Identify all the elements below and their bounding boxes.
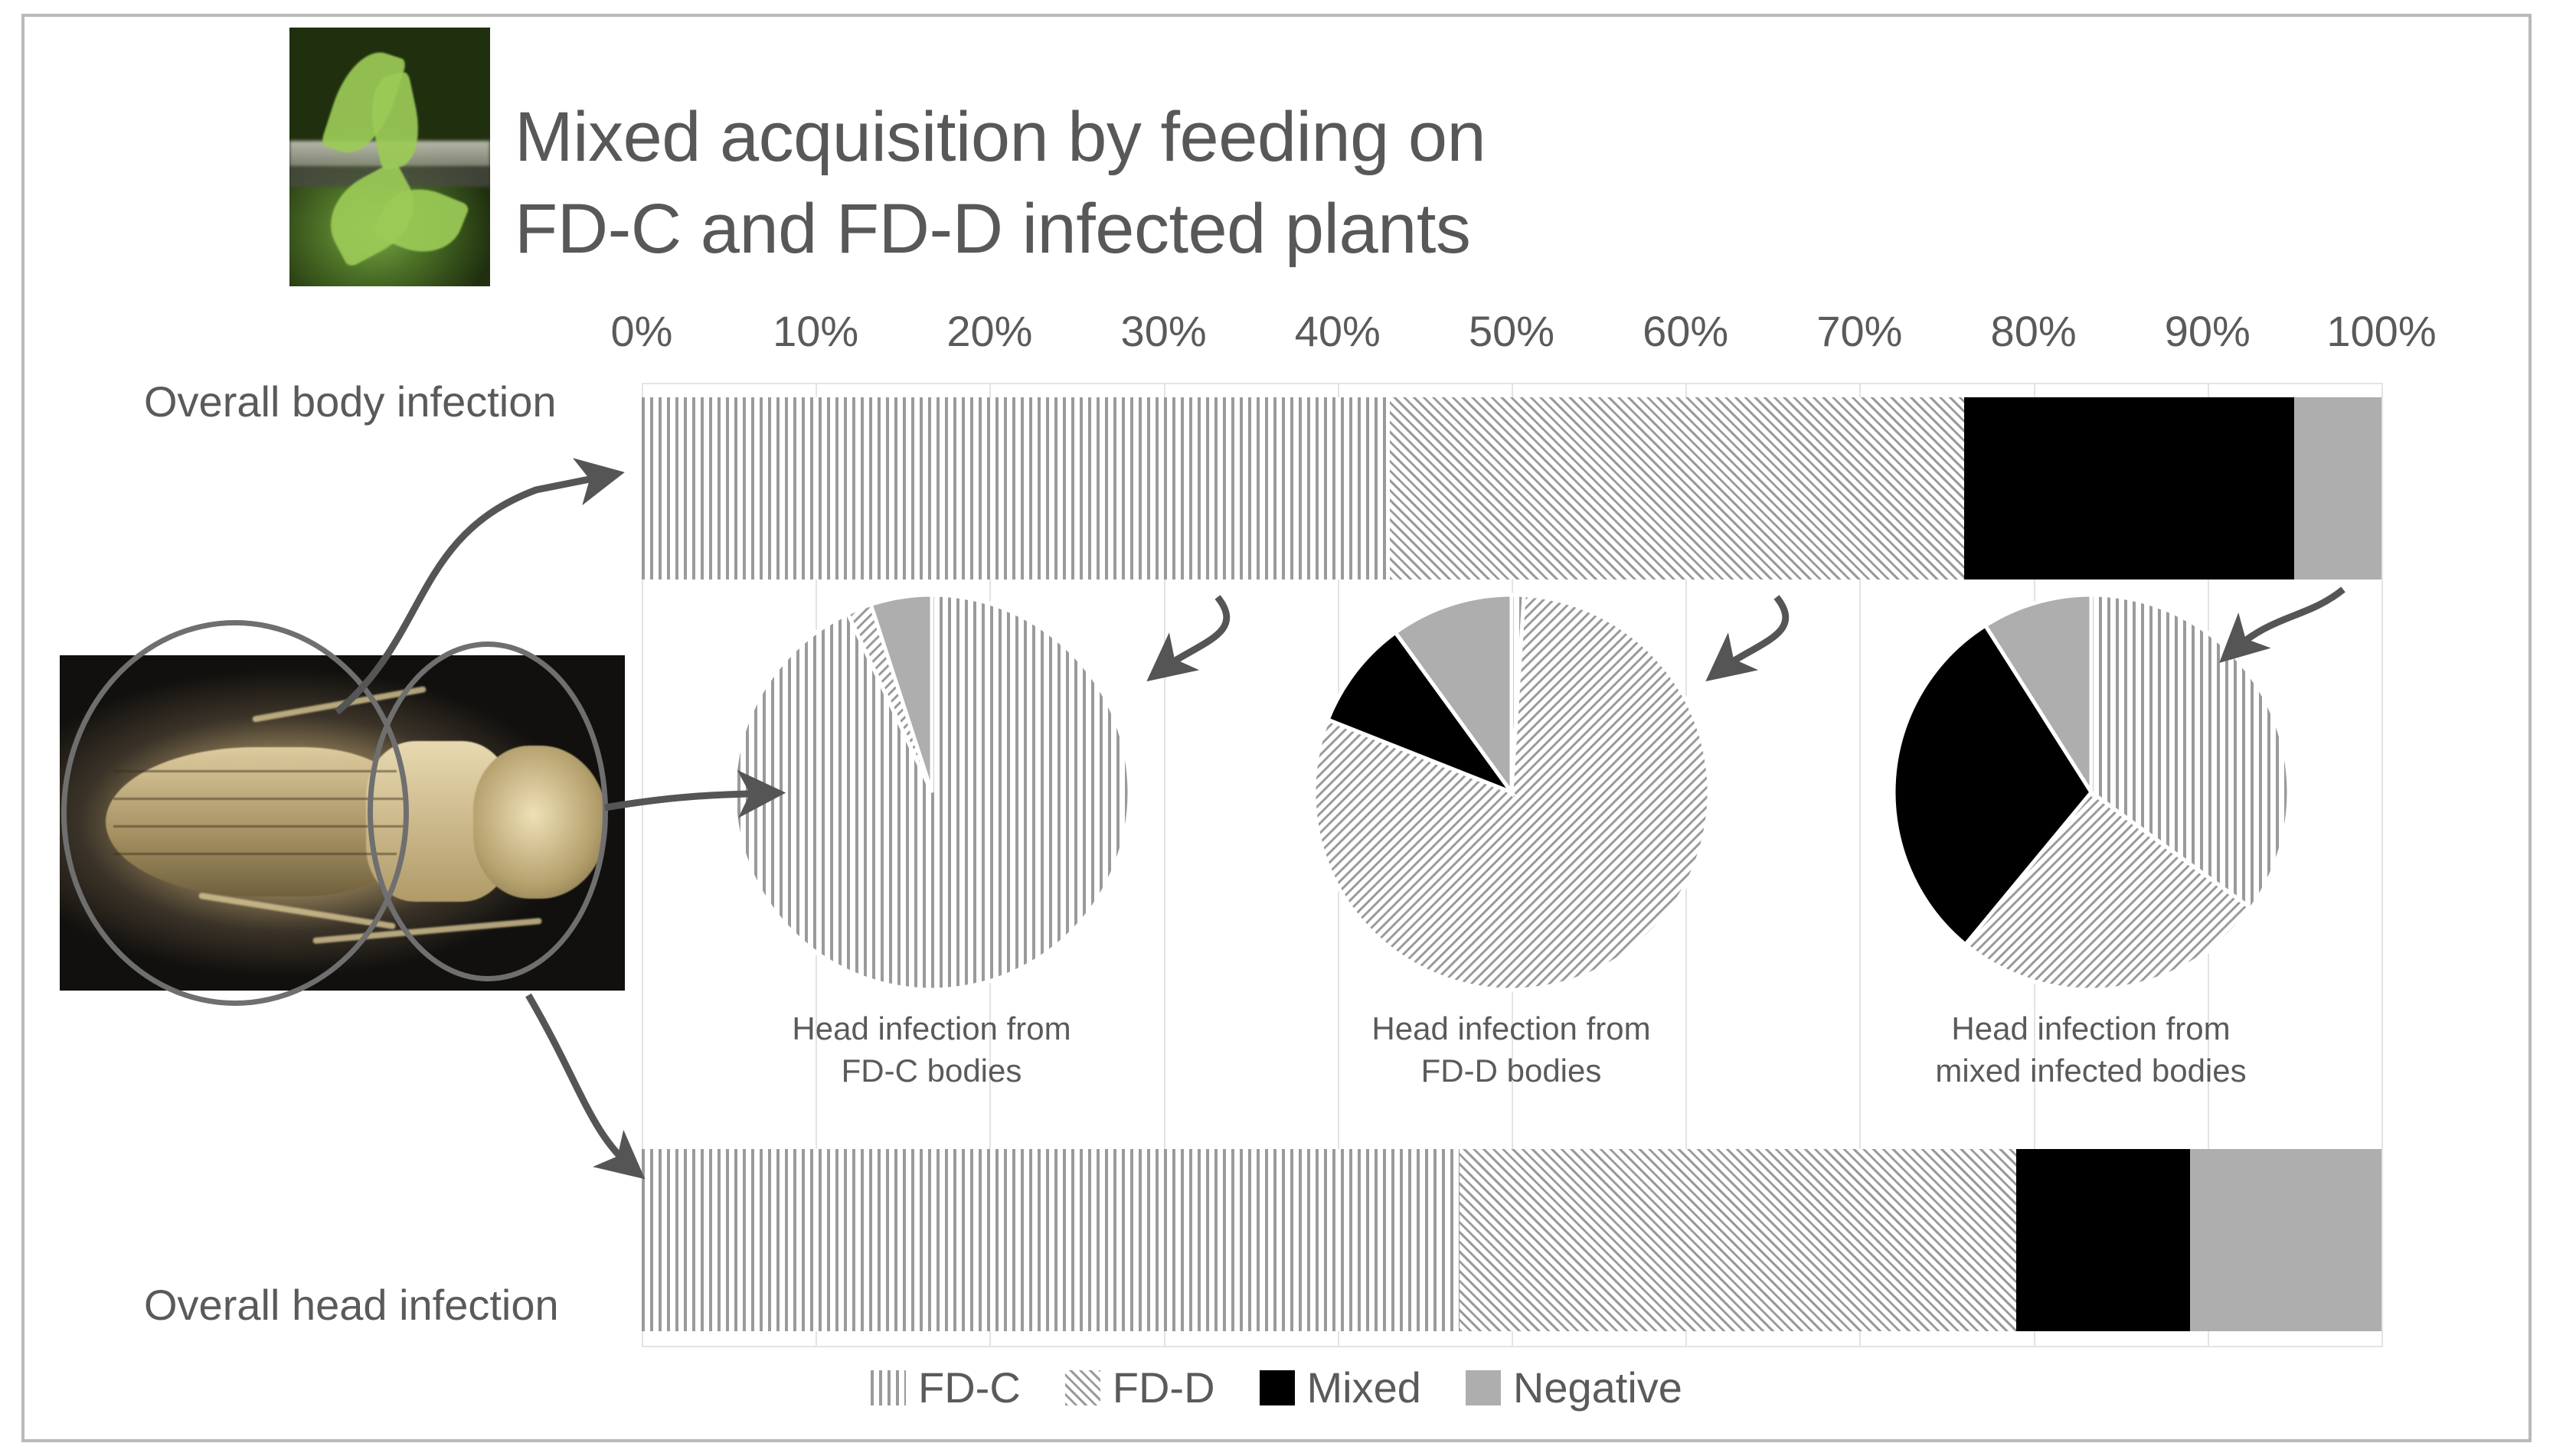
x-tick-0: 0% (611, 306, 673, 356)
legend-swatch-negative (1466, 1370, 1501, 1405)
pie-caption-line-1: Head infection from (1951, 1010, 2230, 1046)
x-tick-10: 10% (773, 306, 858, 356)
stacked-bar-overall-head (642, 1149, 2381, 1331)
pie-graphic-1 (729, 589, 1135, 995)
plot-bottom-border (642, 1346, 2381, 1347)
pie-caption-line-2: mixed infected bodies (1935, 1053, 2246, 1089)
x-tick-50: 50% (1469, 306, 1554, 356)
stacked-bar-overall-body (642, 397, 2381, 579)
pie-caption-1: Head infection fromFD-C bodies (642, 1007, 1221, 1092)
chart-legend: FD-CFD-DMixedNegative (0, 1363, 2553, 1412)
legend-swatch-mixed (1260, 1370, 1295, 1405)
legend-label-mixed: Mixed (1307, 1363, 1421, 1412)
title-line-1: Mixed acquisition by feeding on (515, 98, 1486, 176)
x-tick-40: 40% (1295, 306, 1381, 356)
bar-segment-fd-c (642, 1149, 1460, 1331)
pie-caption-3: Head infection frommixed infected bodies (1801, 1007, 2381, 1092)
pie-chart-row: Head infection fromFD-C bodies Head infe… (642, 589, 2381, 1125)
legend-item-fd-d[interactable]: FD-D (1065, 1363, 1215, 1412)
legend-label-fd-d: FD-D (1113, 1363, 1215, 1412)
slide-canvas: Mixed acquisition by feeding on FD-C and… (0, 0, 2553, 1456)
x-tick-100: 100% (2326, 306, 2436, 356)
legend-label-negative: Negative (1513, 1363, 1682, 1412)
x-tick-20: 20% (946, 306, 1032, 356)
pie-graphic-2 (1309, 589, 1715, 995)
bar-segment-mixed (1964, 397, 2295, 579)
plot-top-border (642, 383, 2381, 384)
title-line-2: FD-C and FD-D infected plants (515, 184, 1740, 276)
x-axis-tick-labels: 0%10%20%30%40%50%60%70%80%90%100% (0, 306, 2553, 360)
legend-item-negative[interactable]: Negative (1466, 1363, 1682, 1412)
x-tick-60: 60% (1643, 306, 1728, 356)
head-highlight-circle (368, 641, 608, 981)
pie-caption-line-1: Head infection from (792, 1010, 1071, 1046)
body-highlight-circle (61, 620, 409, 1006)
bar-segment-fd-d (1390, 397, 1964, 579)
row-label-overall-body: Overall body infection (144, 377, 557, 426)
legend-item-fd-c[interactable]: FD-C (871, 1363, 1021, 1412)
gridline (2381, 383, 2383, 1347)
bar-segment-negative (2190, 1149, 2381, 1331)
x-tick-80: 80% (1991, 306, 2077, 356)
pie-chart-3: Head infection frommixed infected bodies (1801, 589, 2381, 1125)
legend-item-mixed[interactable]: Mixed (1260, 1363, 1421, 1412)
pie-caption-line-1: Head infection from (1371, 1010, 1650, 1046)
row-label-overall-head: Overall head infection (144, 1280, 559, 1330)
legend-label-fd-c: FD-C (918, 1363, 1021, 1412)
pie-chart-1: Head infection fromFD-C bodies (642, 589, 1221, 1125)
legend-swatch-fd-d (1065, 1370, 1100, 1405)
pie-caption-line-2: FD-D bodies (1421, 1053, 1602, 1089)
pie-chart-2: Head infection fromFD-D bodies (1221, 589, 1801, 1125)
pie-caption-2: Head infection fromFD-D bodies (1221, 1007, 1801, 1092)
slide-title: Mixed acquisition by feeding on FD-C and… (515, 92, 1740, 275)
bar-segment-mixed (2016, 1149, 2190, 1331)
x-tick-30: 30% (1121, 306, 1207, 356)
legend-swatch-fd-c (871, 1370, 906, 1405)
plant-photo (289, 28, 490, 286)
x-tick-70: 70% (1816, 306, 1902, 356)
bar-segment-negative (2294, 397, 2381, 579)
pie-caption-line-2: FD-C bodies (842, 1053, 1022, 1089)
x-tick-90: 90% (2165, 306, 2251, 356)
pie-graphic-3 (1888, 589, 2294, 995)
bar-segment-fd-d (1460, 1149, 2016, 1331)
bar-segment-fd-c (642, 397, 1390, 579)
